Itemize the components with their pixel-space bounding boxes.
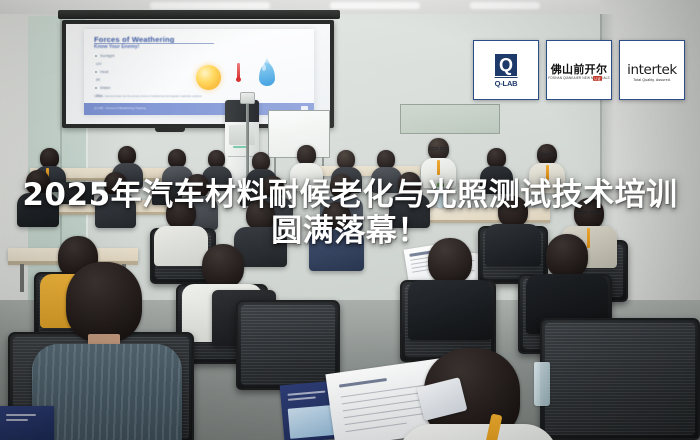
office-chair	[236, 300, 340, 390]
title-line-2: 圆满落幕！	[0, 214, 700, 250]
slide-bullet: Sunlight	[100, 53, 114, 58]
glasses-icon	[548, 153, 556, 156]
slide-bullet: UV	[96, 61, 102, 66]
ceiling-light	[150, 2, 270, 9]
q-lab-wordmark: Q-LAB	[495, 77, 518, 88]
q-lab-mark-icon: Q	[495, 54, 517, 76]
logo-card-intertek: intertek Total Quality. Assured.	[619, 40, 685, 100]
screen-roller	[58, 10, 340, 19]
logo-card-foshan-qiankaier: 佛山前开尔 FOSHAN QIANKAIER NEW MATERIALS 认证	[546, 40, 612, 100]
handout-title-line	[339, 378, 387, 388]
water-bottle	[534, 362, 550, 406]
q-lab-letter: Q	[499, 56, 513, 74]
sun-icon	[196, 65, 221, 90]
presentation-slide: Forces of Weathering Know Your Enemy! Su…	[84, 29, 314, 115]
partner-logo-strip: Q Q-LAB 佛山前开尔 FOSHAN QIANKAIER NEW MATER…	[473, 40, 685, 100]
screen-pull-tab	[155, 126, 185, 132]
logo-card-q-lab: Q Q-LAB	[473, 40, 539, 100]
glasses-icon	[538, 153, 546, 156]
ac-vent	[229, 125, 255, 145]
slide-bullet: IR	[96, 77, 100, 82]
green-board	[400, 104, 500, 134]
ceiling-light	[330, 2, 420, 9]
booklet	[0, 406, 54, 440]
water-drop-icon	[259, 63, 275, 86]
equipment-stand-head	[240, 92, 255, 104]
slide-footnote: Sunlight, heat and water are the primary…	[94, 95, 299, 98]
slide-rule	[94, 43, 214, 44]
title-overlay: 2025年汽车材料耐候老化与光照测试技术培训 圆满落幕！	[0, 178, 700, 250]
slide-bullet: Water	[100, 85, 111, 90]
foshan-badge: 认证	[593, 76, 602, 81]
slide-bullet-dot	[95, 71, 97, 73]
intertek-tagline: Total Quality. Assured.	[633, 78, 671, 82]
slide-subtitle: Know Your Enemy!	[94, 44, 139, 50]
glasses-icon	[440, 147, 448, 150]
title-line-1: 2025年汽车材料耐候老化与光照测试技术培训	[0, 178, 700, 214]
intertek-wordmark: intertek	[627, 62, 677, 78]
desk-leg	[20, 264, 24, 292]
glasses-icon	[429, 147, 438, 150]
slide-bullet-dot	[95, 55, 97, 57]
ceiling-light	[470, 2, 540, 9]
slide-footer-text: Q-LAB · Forces of Weathering Training	[94, 106, 146, 110]
event-photo-banner: Forces of Weathering Know Your Enemy! Su…	[0, 0, 700, 440]
slide-bullet: Heat	[100, 69, 108, 74]
thermometer-icon	[236, 63, 241, 85]
office-chair	[540, 318, 700, 440]
slide-bullet-dot	[95, 87, 97, 89]
